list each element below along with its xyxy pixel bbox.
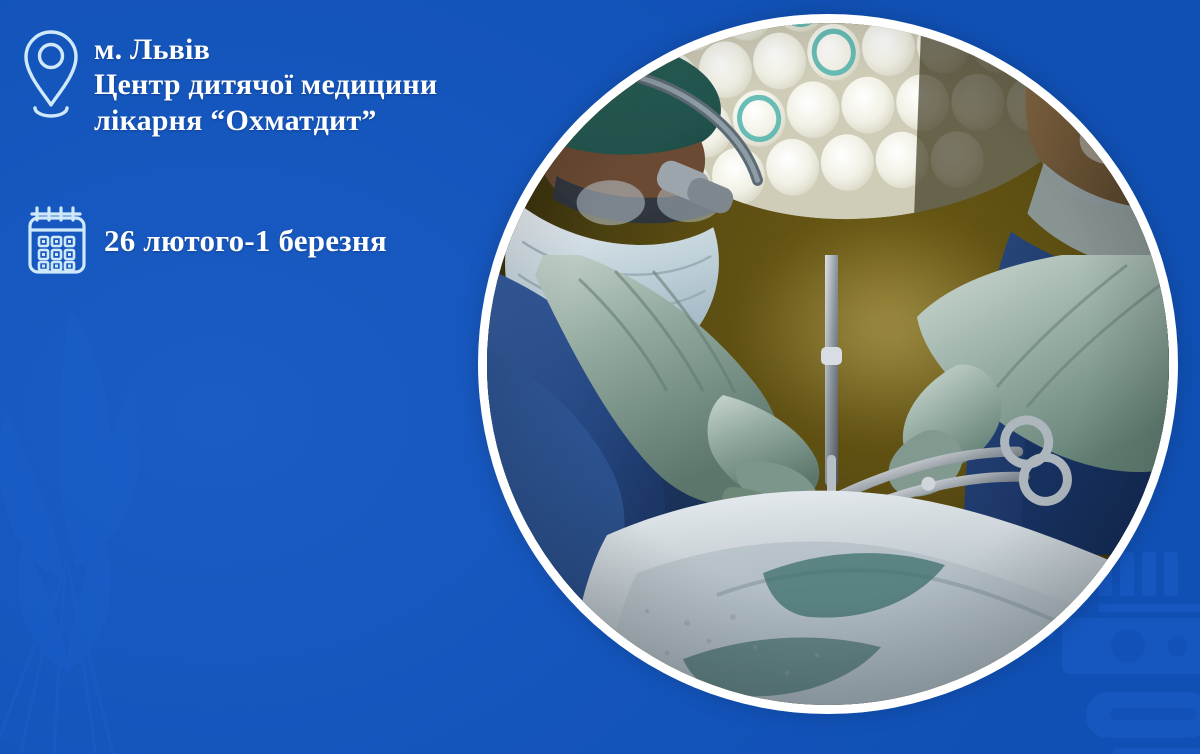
venue-city: м. Львів [94,32,437,67]
surgery-photo [487,23,1169,705]
venue-hospital: лікарня “Охматдит” [94,103,437,138]
venue-text: м. Львів Центр дитячої медицини лікарня … [94,26,437,138]
calendar-icon [26,206,88,276]
date-range: 26 лютого-1 березня [104,223,387,259]
venue-row: м. Львів Центр дитячої медицини лікарня … [22,26,437,138]
event-info-block: м. Львів Центр дитячої медицини лікарня … [0,0,480,300]
event-announcement-banner: м. Львів Центр дитячої медицини лікарня … [0,0,1200,754]
surgical-field [487,255,1169,705]
venue-center: Центр дитячої медицини [94,67,437,102]
circular-photo-frame [478,14,1178,714]
date-row: 26 лютого-1 березня [26,206,387,276]
location-pin-icon [22,26,80,122]
